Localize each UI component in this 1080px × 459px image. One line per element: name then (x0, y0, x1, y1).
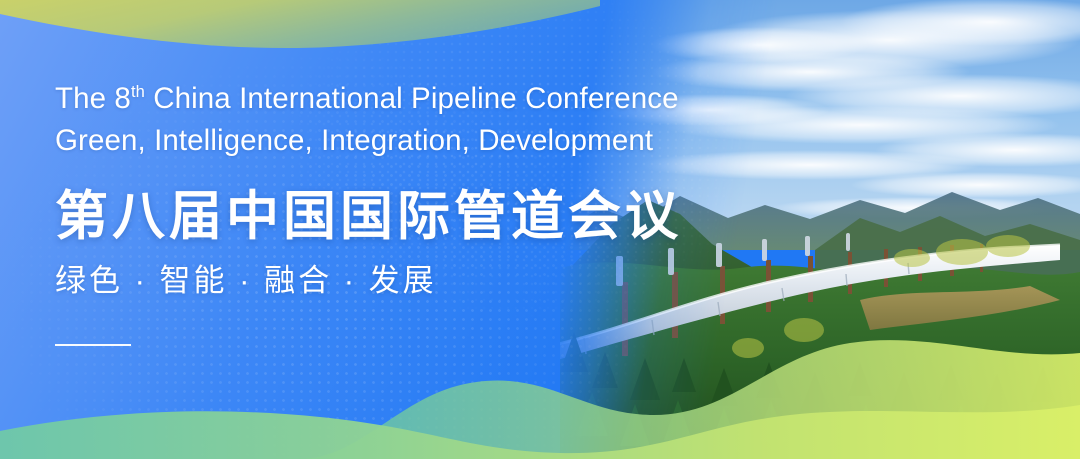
chinese-title: 第八届中国国际管道会议 (55, 186, 755, 248)
english-title-rest: China International Pipeline Conference (145, 82, 679, 115)
english-subtitle: Green, Intelligence, Integration, Develo… (55, 120, 755, 162)
english-title-ordinal-suffix: th (131, 82, 145, 101)
english-title-main: The 8 (55, 82, 131, 115)
conference-banner: The 8th China International Pipeline Con… (0, 0, 1080, 459)
divider-rule (55, 344, 131, 346)
chinese-subtitle: 绿色 · 智能 · 融合 · 发展 (55, 260, 755, 302)
english-title: The 8th China International Pipeline Con… (55, 78, 755, 120)
decorative-wave-top-left (0, 0, 600, 90)
banner-text-block: The 8th China International Pipeline Con… (55, 78, 755, 346)
